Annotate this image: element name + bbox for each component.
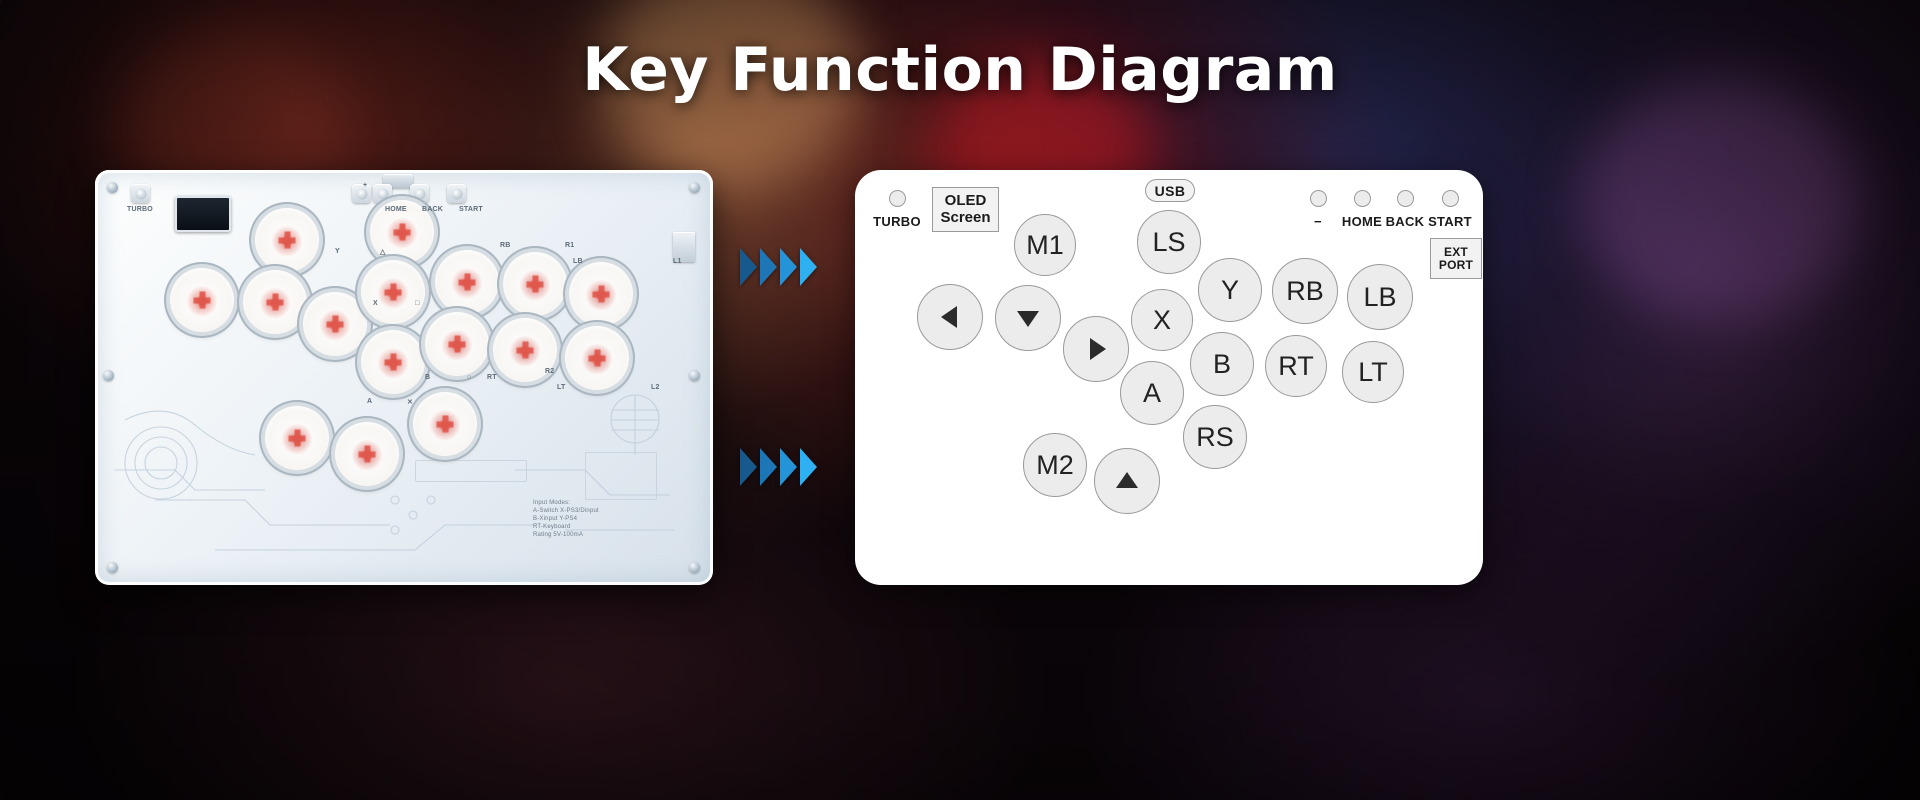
case-screw xyxy=(689,562,700,573)
diagram-button-b[interactable]: B xyxy=(1190,332,1254,396)
fine-print-line: Input Modes: xyxy=(533,500,599,506)
diagram-button-right[interactable] xyxy=(1063,316,1129,382)
diagram-button-label: M2 xyxy=(1036,452,1074,479)
oled-badge[interactable]: OLEDScreen xyxy=(932,187,999,232)
diagram-button-ls[interactable]: LS xyxy=(1137,210,1201,274)
controller-label-: ✕ xyxy=(407,398,413,406)
controller-label-rb: RB xyxy=(500,242,511,249)
diagram-button-rb[interactable]: RB xyxy=(1272,258,1338,324)
keycap-photo xyxy=(569,262,633,326)
diagram-button-rs[interactable]: RS xyxy=(1183,405,1247,469)
diagram-button-rt[interactable]: RT xyxy=(1265,335,1327,397)
indicator-circle-home[interactable] xyxy=(1354,190,1371,207)
case-screw xyxy=(107,182,118,193)
case-screw xyxy=(107,562,118,573)
chevron-icon xyxy=(800,248,817,286)
diagram-button-up[interactable] xyxy=(1094,448,1160,514)
diagram-button-label: LB xyxy=(1363,284,1396,311)
diagram-button-lb[interactable]: LB xyxy=(1347,264,1413,330)
badge-line: PORT xyxy=(1439,259,1473,272)
indicator-circle-turbo[interactable] xyxy=(889,190,906,207)
controller-fine-print: Input Modes:A-Switch X-PS3/DinputB-Xinpu… xyxy=(533,500,599,538)
controller-label-start: START xyxy=(459,206,483,213)
controller-label-rt: RT xyxy=(487,374,497,381)
arrow-right-icon xyxy=(1090,338,1106,360)
key-function-diagram-panel: TURBO−HOMEBACKSTARTOLEDScreenUSBEXTPORTM… xyxy=(855,170,1483,585)
chevron-icon xyxy=(780,248,797,286)
controller-label-r2: R2 xyxy=(545,368,554,375)
indicator-circle-minus[interactable] xyxy=(1310,190,1327,207)
controller-label-y: Y xyxy=(335,248,340,255)
controller-label-x: X xyxy=(373,300,378,307)
oled-screen-photo xyxy=(175,196,231,232)
indicator-circle-start[interactable] xyxy=(1442,190,1459,207)
turbo-button-photo xyxy=(131,184,150,203)
fine-print-line: B-Xinput Y-PS4 xyxy=(533,516,599,522)
controller-label-: △ xyxy=(380,248,386,256)
case-screw xyxy=(689,370,700,381)
fine-print-line: A-Switch X-PS3/Dinput xyxy=(533,508,599,514)
start-button-photo xyxy=(447,184,466,203)
controller-label-turbo: TURBO xyxy=(127,206,153,213)
controller-label-: + xyxy=(363,182,367,189)
diagram-button-x[interactable]: X xyxy=(1131,289,1193,351)
controller-label-l1: L1 xyxy=(673,258,682,265)
badge-line: USB xyxy=(1155,183,1186,199)
controller-photo: TURBO+HOMEBACKSTARTY△RBR1LBL1X□B○RTR2LTL… xyxy=(95,170,713,585)
ext-port-badge[interactable]: EXTPORT xyxy=(1430,238,1482,279)
keycap-photo xyxy=(565,326,629,390)
diagram-button-y[interactable]: Y xyxy=(1198,258,1262,322)
diagram-button-label: A xyxy=(1143,380,1161,407)
controller-label-r1: R1 xyxy=(565,242,574,249)
diagram-button-label: Y xyxy=(1221,277,1239,304)
controller-label-lb: LB xyxy=(573,258,583,265)
home-button-photo xyxy=(373,184,392,203)
fine-print-line: RT-Keyboard xyxy=(533,524,599,530)
keycap-photo xyxy=(170,268,234,332)
badge-line: OLED xyxy=(945,193,987,209)
controller-label-b: B xyxy=(425,374,430,381)
back-button-photo xyxy=(410,184,429,203)
arrow-down-icon xyxy=(1017,311,1039,327)
diagram-button-label: M1 xyxy=(1026,232,1064,259)
arrow-left-icon xyxy=(941,306,957,328)
keycap-photo xyxy=(425,312,489,376)
keycap-photo xyxy=(413,392,477,456)
controller-label-: □ xyxy=(415,300,419,307)
diagram-button-label: RB xyxy=(1286,278,1324,305)
keycap-photo xyxy=(265,406,329,470)
diagram-button-a[interactable]: A xyxy=(1120,361,1184,425)
controller-label-: ○ xyxy=(467,374,471,381)
controller-label-a: A xyxy=(367,398,372,405)
diagram-button-label: B xyxy=(1213,351,1231,378)
chevron-arrows-top xyxy=(740,248,817,286)
chevron-icon xyxy=(800,448,817,486)
arrow-up-icon xyxy=(1116,472,1138,488)
chevron-arrows-bottom xyxy=(740,448,817,486)
chevron-icon xyxy=(780,448,797,486)
keycap-photo xyxy=(255,208,319,272)
diagram-button-m2[interactable]: M2 xyxy=(1023,433,1087,497)
fine-print-line: Rating 5V-100mA xyxy=(533,532,599,538)
diagram-button-label: LS xyxy=(1152,229,1185,256)
diagram-button-m1[interactable]: M1 xyxy=(1014,214,1076,276)
badge-line: Screen xyxy=(940,210,990,226)
diagram-button-label: RS xyxy=(1196,424,1234,451)
usb-badge[interactable]: USB xyxy=(1145,179,1195,202)
controller-label-lt: LT xyxy=(557,384,565,391)
vent-grille-2 xyxy=(585,452,657,500)
keycap-photo xyxy=(303,292,367,356)
indicator-label-turbo: TURBO xyxy=(857,214,937,229)
keycap-photo xyxy=(243,270,307,334)
chevron-icon xyxy=(760,248,777,286)
diagram-button-left[interactable] xyxy=(917,284,983,350)
diagram-button-label: X xyxy=(1153,307,1171,334)
diagram-button-lt[interactable]: LT xyxy=(1342,341,1404,403)
controller-label-l2: L2 xyxy=(651,384,660,391)
vent-grille xyxy=(415,460,527,482)
indicator-label-start: START xyxy=(1410,214,1490,229)
keycap-photo xyxy=(503,252,567,316)
keycap-photo xyxy=(361,330,425,394)
chevron-icon xyxy=(760,448,777,486)
page-title: Key Function Diagram xyxy=(0,40,1920,100)
case-screw xyxy=(689,182,700,193)
diagram-button-label: RT xyxy=(1278,353,1314,380)
diagram-button-label: LT xyxy=(1358,359,1388,386)
indicator-circle-back[interactable] xyxy=(1397,190,1414,207)
keycap-photo xyxy=(435,250,499,314)
keycap-photo xyxy=(335,422,399,486)
diagram-button-down[interactable] xyxy=(995,285,1061,351)
chevron-icon xyxy=(740,448,757,486)
chevron-icon xyxy=(740,248,757,286)
keycap-photo xyxy=(361,260,425,324)
case-screw xyxy=(103,370,114,381)
badge-line: EXT xyxy=(1444,246,1468,259)
controller-label-home: HOME xyxy=(385,206,407,213)
controller-label-back: BACK xyxy=(422,206,443,213)
plus-button-photo xyxy=(352,184,371,203)
